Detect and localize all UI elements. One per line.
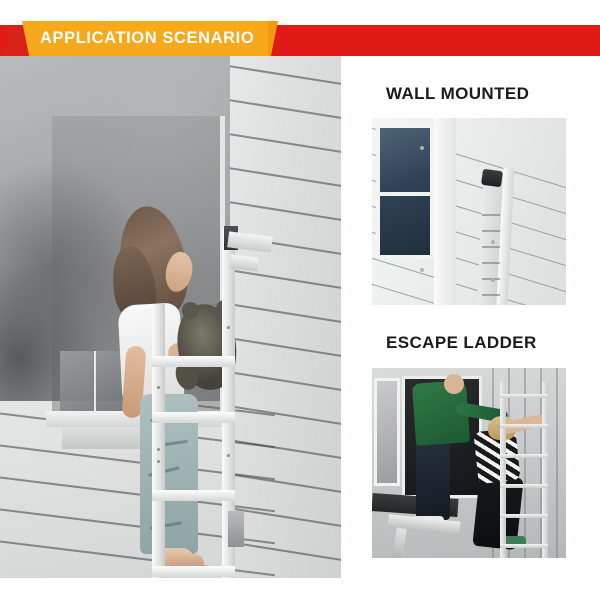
- escape-ladder-photo: [372, 368, 566, 558]
- ladder-rung-4: [152, 566, 235, 577]
- main-scenario-photo: [0, 56, 341, 578]
- ladder-wall-standoff: [228, 511, 244, 547]
- escape-ladder-rail-right: [542, 382, 548, 558]
- escape-ladder-rail-left: [500, 382, 506, 558]
- banner-title: APPLICATION SCENARIO: [40, 29, 280, 53]
- man-legs: [416, 440, 450, 520]
- man-head: [444, 374, 464, 394]
- wall-mounted-corner-trim: [434, 118, 456, 305]
- ladder-rail-left: [152, 304, 165, 578]
- teddy-bear-ear-left: [182, 302, 199, 319]
- wall-mounted-photo: [372, 118, 566, 305]
- application-scenario-banner: APPLICATION SCENARIO: [0, 0, 600, 62]
- ladder-rung-3: [152, 490, 235, 501]
- wall-mounted-title: WALL MOUNTED: [386, 84, 529, 104]
- ladder-mounting-clip: [481, 169, 503, 188]
- escape-side-window: [374, 378, 400, 486]
- product-feature-image: APPLICATION SCENARIO: [0, 0, 600, 600]
- window-glass-pane: [60, 351, 126, 413]
- ladder-rung-1: [152, 356, 235, 367]
- wall-mounted-window-muntin: [378, 192, 432, 196]
- escape-ladder-title: ESCAPE LADDER: [386, 333, 537, 353]
- ladder-rung-2: [152, 412, 235, 423]
- window-muntin: [94, 351, 96, 413]
